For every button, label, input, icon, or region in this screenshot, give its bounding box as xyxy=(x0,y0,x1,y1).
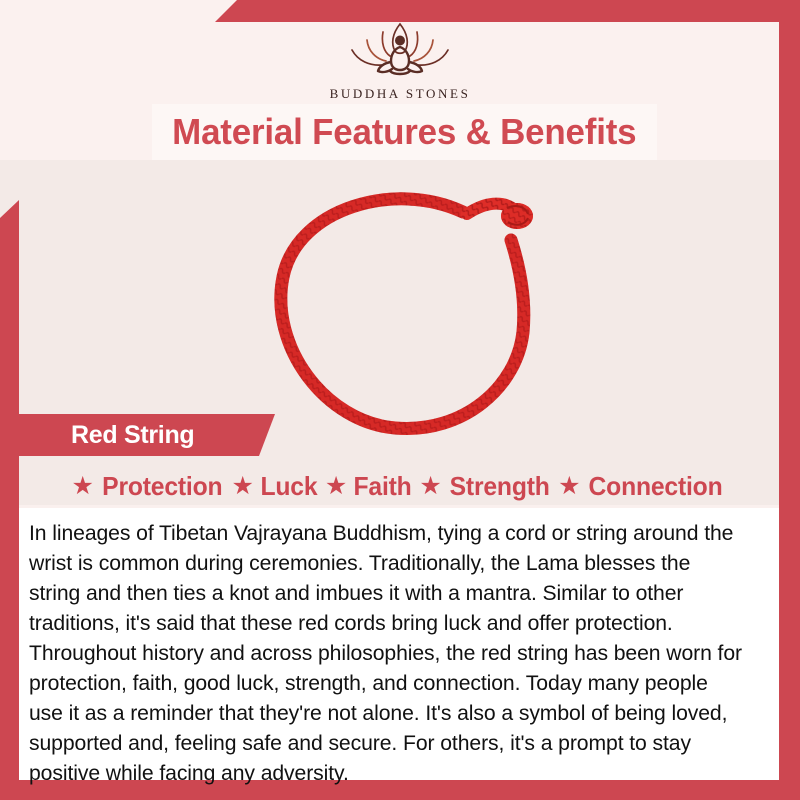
feature-label: Faith xyxy=(354,471,412,502)
feature-label: Luck xyxy=(260,471,317,502)
decorative-border-right xyxy=(779,0,800,800)
feature-item-protection: ★ Protection xyxy=(72,471,226,502)
star-icon: ★ xyxy=(232,474,254,499)
decorative-border-left xyxy=(0,200,19,800)
feature-label: Connection xyxy=(589,471,723,502)
star-icon: ★ xyxy=(72,474,94,499)
material-name-banner: Red String xyxy=(19,414,275,456)
page-title: Material Features & Benefits xyxy=(172,111,636,153)
feature-item-connection: ★ Connection xyxy=(558,471,726,502)
product-image-red-string-bracelet xyxy=(245,172,585,450)
feature-label: Protection xyxy=(102,471,222,502)
star-icon: ★ xyxy=(419,474,441,499)
feature-item-strength: ★ Strength xyxy=(419,471,552,502)
feature-item-luck: ★ Luck xyxy=(232,471,319,502)
title-banner: Material Features & Benefits xyxy=(152,104,657,160)
description-text: In lineages of Tibetan Vajrayana Buddhis… xyxy=(29,518,746,788)
infographic-poster: BUDDHA STONES Material Features & Benefi… xyxy=(0,0,800,800)
star-icon: ★ xyxy=(325,474,347,499)
description-panel: In lineages of Tibetan Vajrayana Buddhis… xyxy=(19,508,779,780)
material-name-label: Red String xyxy=(71,421,194,450)
feature-item-faith: ★ Faith xyxy=(325,471,414,502)
feature-list: ★ Protection ★ Luck ★ Faith ★ Strength ★… xyxy=(19,464,779,508)
star-icon: ★ xyxy=(558,474,580,499)
brand-name: BUDDHA STONES xyxy=(330,86,471,102)
lotus-meditation-logo-icon xyxy=(334,18,466,84)
feature-label: Strength xyxy=(449,471,549,502)
brand-logo: BUDDHA STONES xyxy=(0,18,800,102)
